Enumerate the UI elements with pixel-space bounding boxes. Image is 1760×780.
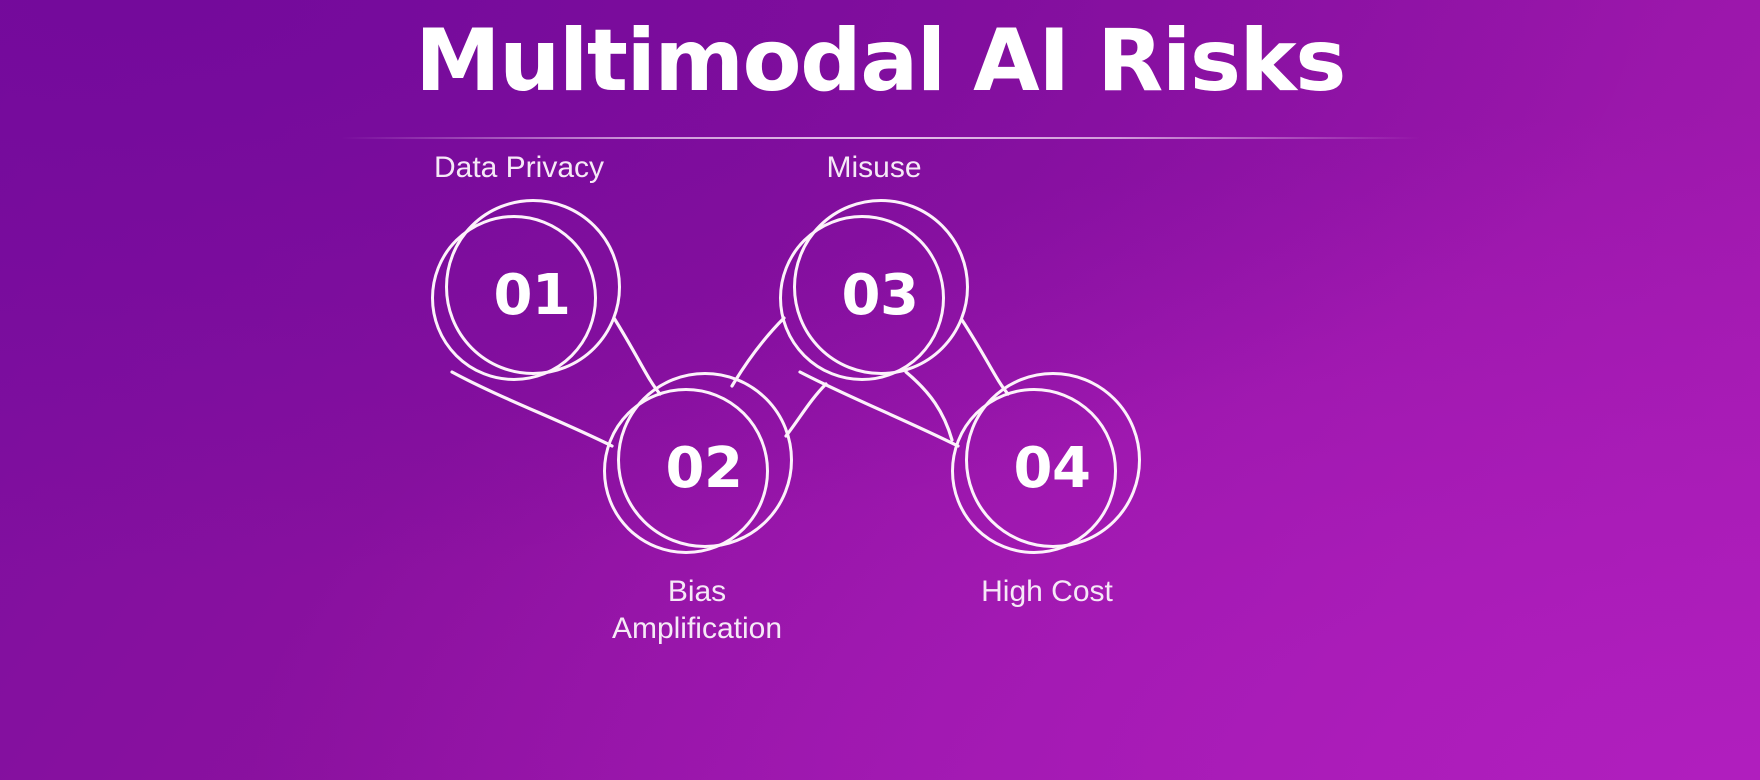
node-04[interactable]: 04 [945, 366, 1145, 566]
infographic-slide: Multimodal AI Risks 01 [0, 0, 1760, 780]
node-01[interactable]: 01 [425, 193, 625, 393]
node-04-label: High Cost [981, 574, 1113, 611]
node-03-label: Misuse [826, 150, 921, 187]
node-02-number: 02 [597, 366, 797, 566]
risk-node-diagram: 01 Data Privacy 02 Bias Amplification 03… [0, 0, 1760, 780]
node-01-label: Data Privacy [434, 150, 604, 187]
node-01-number: 01 [425, 193, 625, 393]
node-04-number: 04 [945, 366, 1145, 566]
node-02-label: Bias Amplification [612, 574, 782, 648]
node-03-number: 03 [773, 193, 973, 393]
node-03[interactable]: 03 [773, 193, 973, 393]
node-02[interactable]: 02 [597, 366, 797, 566]
